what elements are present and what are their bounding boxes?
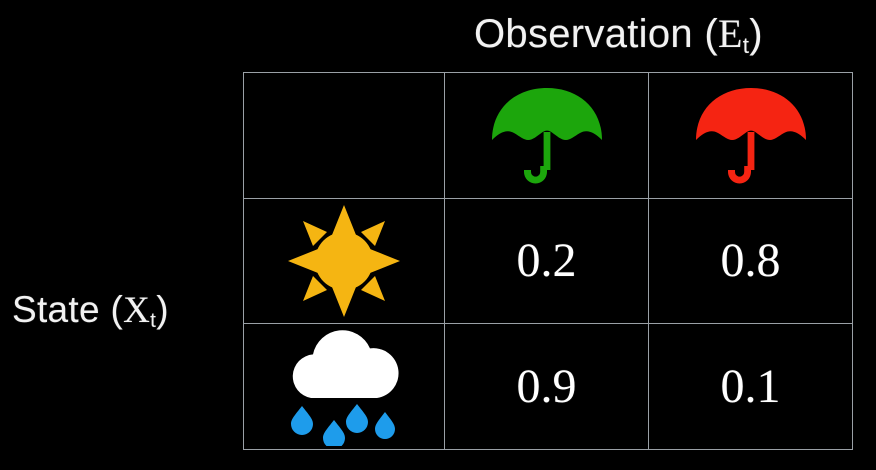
table-row: 0.2 0.8 <box>244 199 853 324</box>
slide-canvas: Observation (Et) State (Xt) <box>0 0 876 470</box>
sun-icon <box>244 199 444 323</box>
header-cell-green-umbrella <box>445 73 649 199</box>
table-row: 0.9 0.1 <box>244 324 853 450</box>
rain-cloud-icon <box>244 324 444 449</box>
table-header-row <box>244 73 853 199</box>
prob-cell-sun-red: 0.8 <box>649 199 853 324</box>
prob-value: 0.2 <box>445 237 648 285</box>
observation-label-close: ) <box>749 12 763 56</box>
state-label-close: ) <box>156 289 169 330</box>
state-label-prefix: State ( <box>12 289 123 330</box>
state-axis-label: State (Xt) <box>12 288 169 338</box>
state-cell-sun <box>244 199 445 324</box>
red-umbrella-icon <box>649 73 852 198</box>
header-cell-red-umbrella <box>649 73 853 199</box>
prob-cell-rain-red: 0.1 <box>649 324 853 450</box>
observation-variable: E <box>718 11 743 56</box>
state-subscript: t <box>150 309 156 332</box>
prob-value: 0.9 <box>445 363 648 411</box>
prob-cell-sun-green: 0.2 <box>445 199 649 324</box>
corner-cell <box>244 73 445 199</box>
prob-cell-rain-green: 0.9 <box>445 324 649 450</box>
green-umbrella-icon <box>445 73 648 198</box>
emission-probability-table: 0.2 0.8 <box>243 72 853 450</box>
observation-label-prefix: Observation ( <box>474 12 718 56</box>
observation-axis-label: Observation (Et) <box>474 10 763 64</box>
prob-value: 0.8 <box>649 237 852 285</box>
observation-subscript: t <box>743 33 750 58</box>
state-variable: X <box>123 290 150 331</box>
state-cell-rain-cloud <box>244 324 445 450</box>
prob-value: 0.1 <box>649 363 852 411</box>
